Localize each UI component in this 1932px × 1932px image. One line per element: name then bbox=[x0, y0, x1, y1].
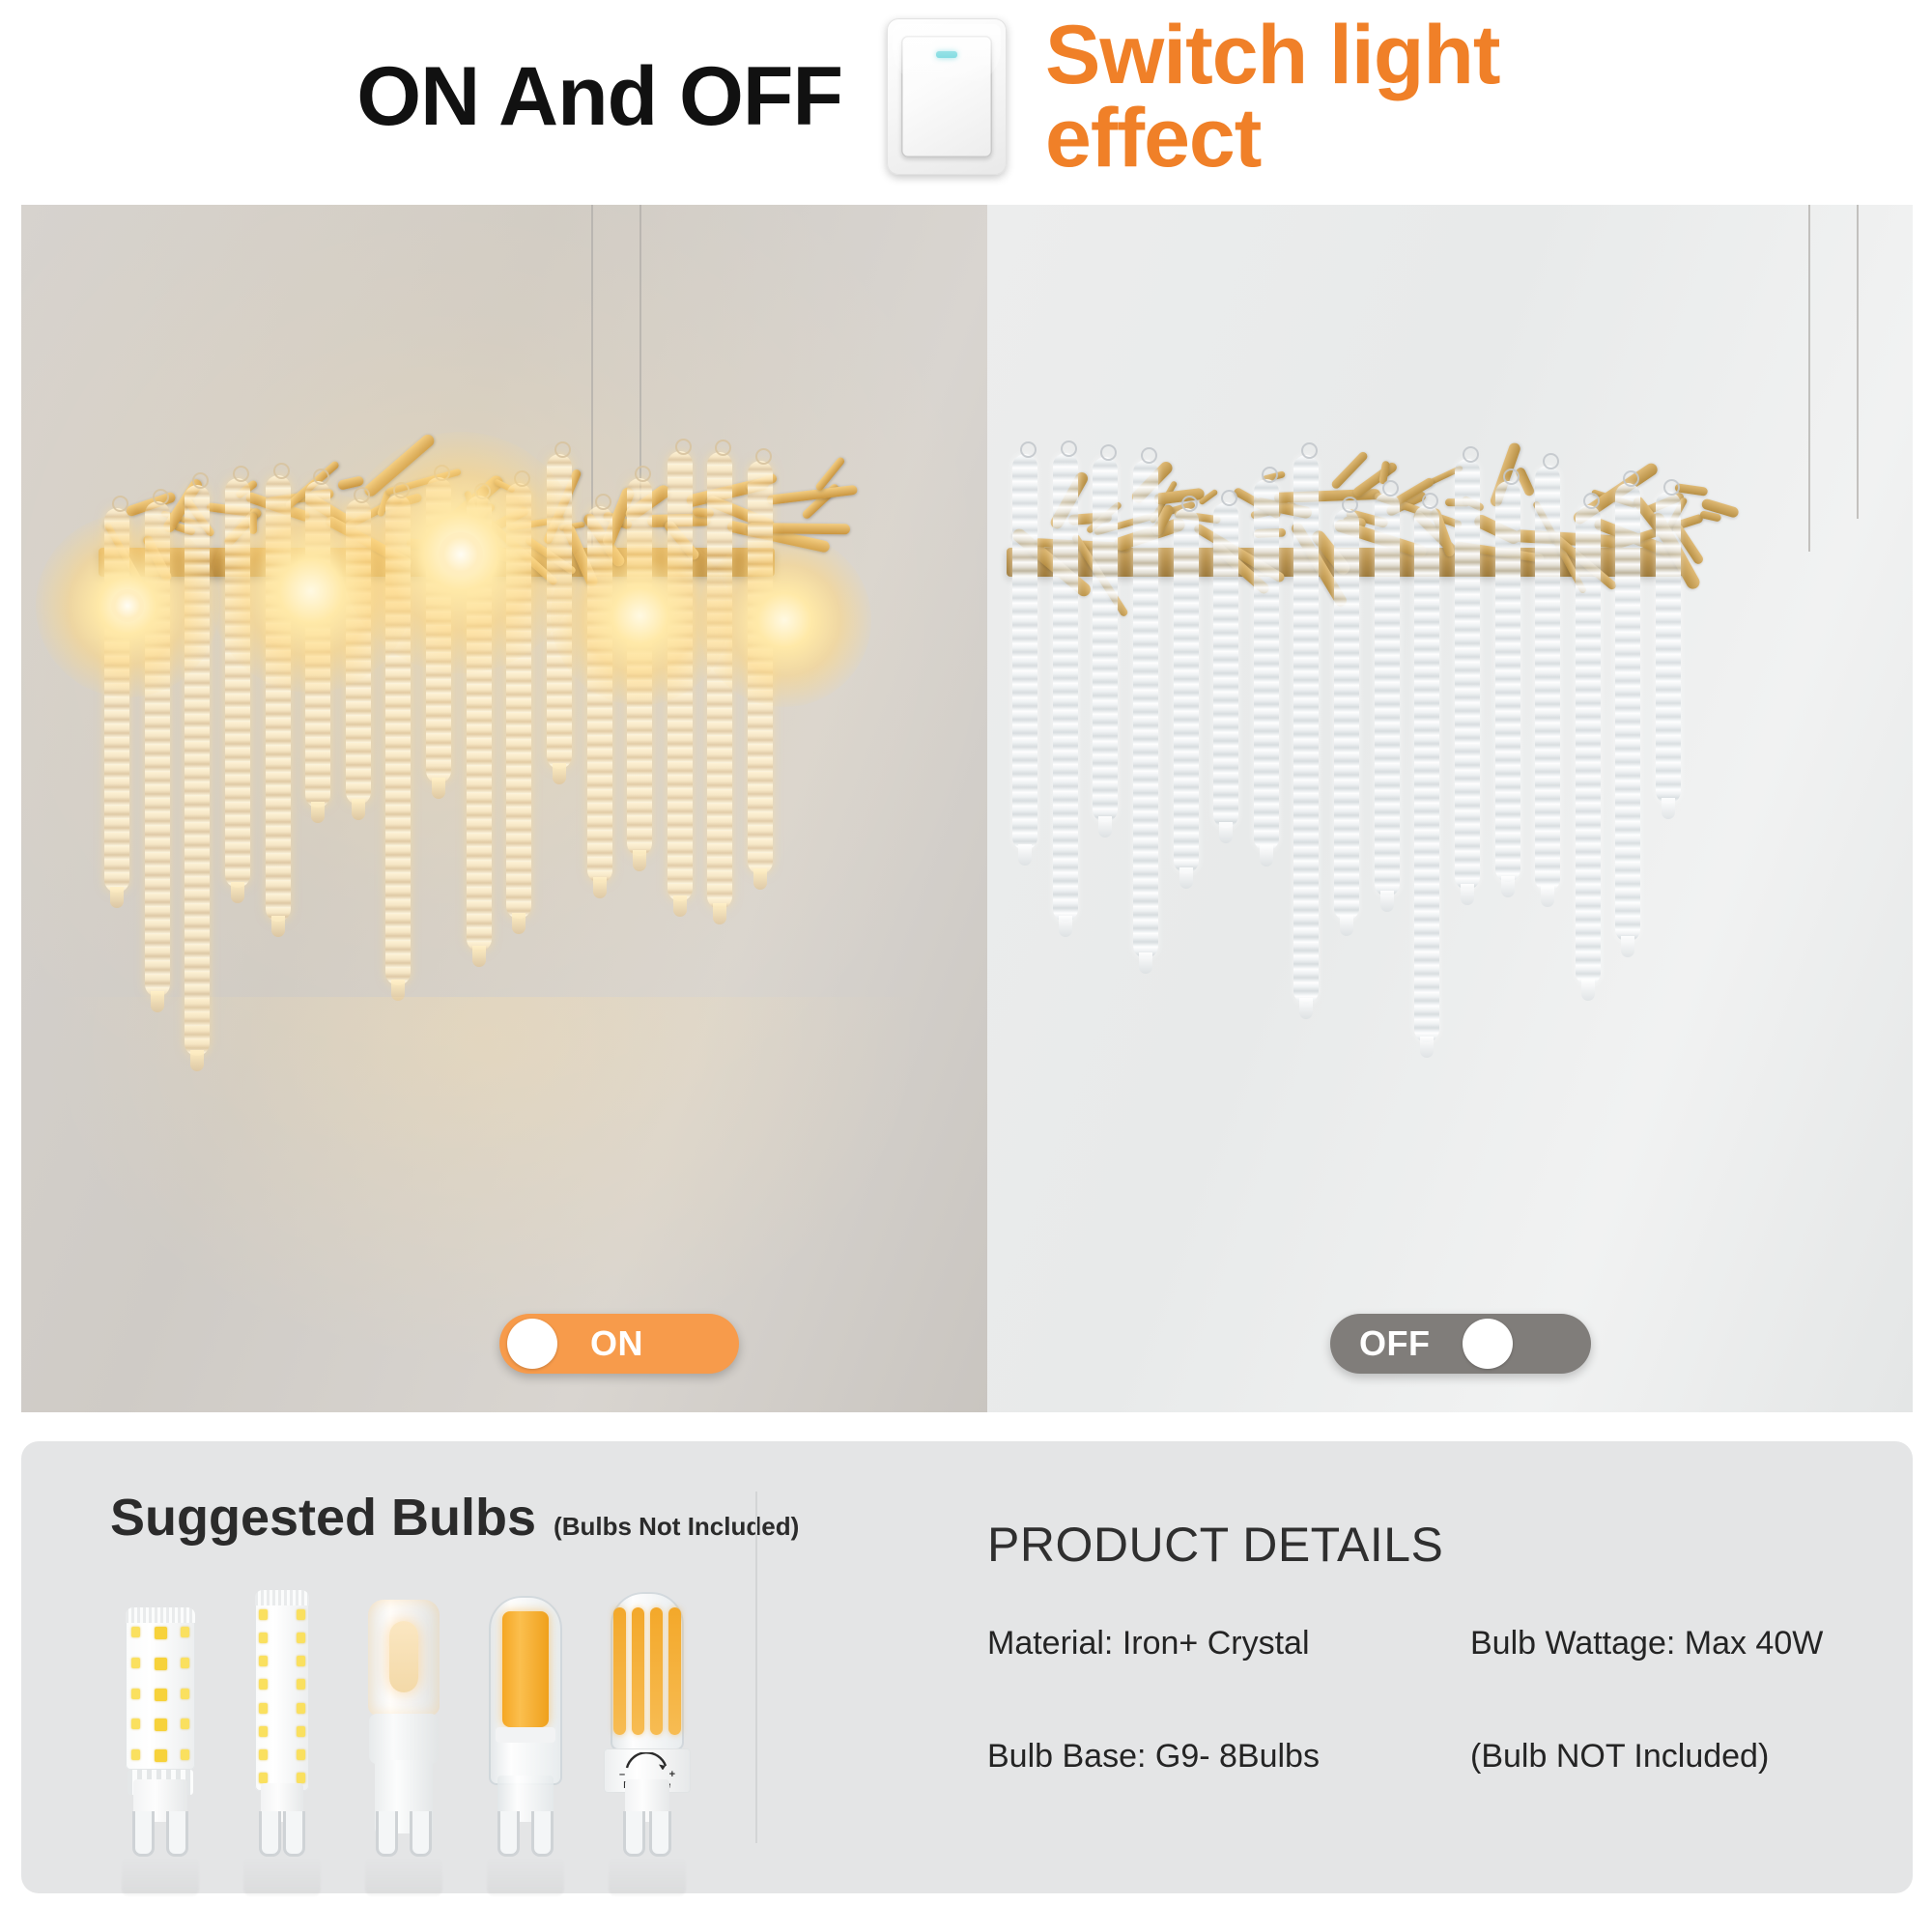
strand-ring bbox=[313, 469, 329, 485]
detail-bulb-included: (Bulb NOT Included) bbox=[1470, 1738, 1857, 1776]
wall-switch-icon bbox=[887, 18, 1007, 175]
suspension-cable bbox=[639, 205, 641, 509]
strand-ring bbox=[1020, 441, 1037, 458]
crystal-strand bbox=[1455, 459, 1480, 890]
crystal-strand bbox=[185, 485, 210, 1056]
suggested-bulbs-note: (Bulbs Not Included) bbox=[554, 1512, 799, 1542]
strand-ring bbox=[1422, 493, 1438, 509]
header-title-left: ON And OFF bbox=[211, 55, 887, 138]
strand-ring bbox=[554, 441, 571, 458]
crystal-strand bbox=[1053, 453, 1078, 922]
strand-ring bbox=[1342, 497, 1358, 513]
strand-ring bbox=[1100, 444, 1117, 461]
strand-ring bbox=[755, 448, 772, 465]
crystal-strand bbox=[748, 461, 773, 874]
crystal-strand bbox=[346, 499, 371, 805]
panel-light-off bbox=[987, 205, 1913, 1412]
dimmer-dial-icon bbox=[622, 1752, 672, 1770]
toggle-knob bbox=[1463, 1319, 1513, 1369]
crystal-strand bbox=[1012, 454, 1037, 850]
strand-ring bbox=[715, 440, 731, 456]
strand-ring bbox=[434, 465, 450, 481]
header: ON And OFF Switch light effect bbox=[0, 0, 1932, 193]
bulb-g9-smd-tall bbox=[236, 1586, 328, 1862]
crystal-strand bbox=[1495, 481, 1520, 881]
toggle-on-badge[interactable]: ON bbox=[499, 1314, 739, 1374]
crystal-strand bbox=[1375, 493, 1400, 895]
switch-led-indicator bbox=[936, 51, 957, 58]
crystal-strand bbox=[266, 475, 291, 922]
bulb-gallery: – + Dimmable bbox=[114, 1573, 752, 1862]
coral-branch-twig bbox=[1153, 487, 1205, 505]
crystal-strand bbox=[668, 451, 693, 900]
crystal-strand bbox=[707, 452, 732, 909]
product-details-title: PRODUCT DETAILS bbox=[987, 1517, 1443, 1573]
detail-bulb-base: Bulb Base: G9- 8Bulbs bbox=[987, 1738, 1470, 1776]
crystal-strand bbox=[587, 506, 612, 883]
strand-ring bbox=[635, 466, 651, 482]
section-divider bbox=[755, 1492, 757, 1843]
crystal-strand bbox=[1576, 505, 1601, 985]
bulb-g9-smd bbox=[114, 1586, 207, 1862]
bulb-g9-frosted-capsule bbox=[357, 1586, 450, 1862]
product-details-grid: Material: Iron+ Crystal Bulb Wattage: Ma… bbox=[987, 1625, 1857, 1776]
strand-ring bbox=[1543, 453, 1559, 469]
crystal-strand bbox=[1133, 460, 1158, 957]
detail-wattage: Bulb Wattage: Max 40W bbox=[1470, 1625, 1857, 1662]
strand-ring bbox=[1061, 440, 1077, 457]
crystal-strand bbox=[305, 481, 330, 809]
info-panel: Suggested Bulbs (Bulbs Not Included) bbox=[21, 1441, 1913, 1893]
dimmer-minus: – bbox=[619, 1770, 625, 1780]
coral-branch-twig bbox=[766, 485, 857, 505]
strand-ring bbox=[1181, 496, 1198, 512]
strand-ring bbox=[1262, 467, 1278, 483]
strand-ring bbox=[273, 463, 290, 479]
suspension-cable bbox=[1808, 205, 1810, 552]
crystal-strand bbox=[1293, 455, 1319, 1005]
crystal-strand bbox=[1535, 466, 1560, 892]
dimmer-plus: + bbox=[669, 1770, 675, 1780]
strand-ring bbox=[1463, 446, 1479, 463]
lit-bulb bbox=[439, 532, 483, 577]
hero-comparison: ON OFF bbox=[21, 205, 1913, 1412]
crystal-strand bbox=[1174, 508, 1199, 873]
bulb-g9-dimmable-filament: – + Dimmable bbox=[601, 1586, 694, 1862]
crystal-strand bbox=[1656, 492, 1681, 804]
crystal-strand bbox=[506, 483, 531, 919]
crystal-strand bbox=[1093, 457, 1118, 822]
crystal-strand bbox=[1254, 479, 1279, 850]
header-title-right: Switch light effect bbox=[1007, 14, 1721, 180]
crystal-strand bbox=[1213, 502, 1238, 828]
product-infographic-page: ON And OFF Switch light effect ON OFF bbox=[0, 0, 1932, 1932]
suspension-cable bbox=[1857, 205, 1859, 519]
toggle-on-label: ON bbox=[590, 1323, 643, 1364]
strand-ring bbox=[1663, 479, 1680, 496]
strand-ring bbox=[1301, 442, 1318, 459]
panel-light-on bbox=[21, 205, 987, 1412]
crystal-strand bbox=[426, 477, 451, 783]
strand-ring bbox=[233, 466, 249, 482]
suggested-bulbs-title: Suggested Bulbs bbox=[110, 1488, 536, 1548]
crystal-strand bbox=[225, 478, 250, 889]
strand-ring bbox=[1583, 493, 1600, 509]
strand-ring bbox=[1221, 490, 1237, 506]
suggested-bulbs-header: Suggested Bulbs (Bulbs Not Included) bbox=[110, 1488, 799, 1548]
strand-ring bbox=[192, 472, 209, 489]
lit-bulb bbox=[111, 589, 144, 622]
crystal-strand bbox=[1414, 505, 1439, 1042]
strand-ring bbox=[514, 470, 530, 487]
toggle-off-badge[interactable]: OFF bbox=[1330, 1314, 1591, 1374]
crystal-strand bbox=[1615, 483, 1640, 942]
crystal-strand bbox=[104, 508, 129, 892]
strand-ring bbox=[153, 489, 169, 505]
crystal-strand bbox=[385, 495, 411, 984]
crystal-strand bbox=[145, 501, 170, 997]
crystal-strand bbox=[547, 454, 572, 769]
strand-ring bbox=[1503, 469, 1520, 485]
bulb-g9-cob-clear bbox=[479, 1586, 572, 1862]
crystal-strand bbox=[1334, 509, 1359, 921]
strand-ring bbox=[354, 487, 370, 503]
detail-material: Material: Iron+ Crystal bbox=[987, 1625, 1470, 1662]
strand-ring bbox=[474, 483, 491, 499]
strand-ring bbox=[675, 439, 692, 455]
switch-rocker bbox=[901, 36, 992, 157]
strand-ring bbox=[1382, 480, 1399, 497]
crystal-strand bbox=[627, 478, 652, 856]
strand-ring bbox=[1141, 447, 1157, 464]
toggle-knob bbox=[507, 1319, 557, 1369]
suspension-cable bbox=[591, 205, 593, 554]
strand-ring bbox=[595, 494, 611, 510]
toggle-off-label: OFF bbox=[1359, 1323, 1430, 1364]
